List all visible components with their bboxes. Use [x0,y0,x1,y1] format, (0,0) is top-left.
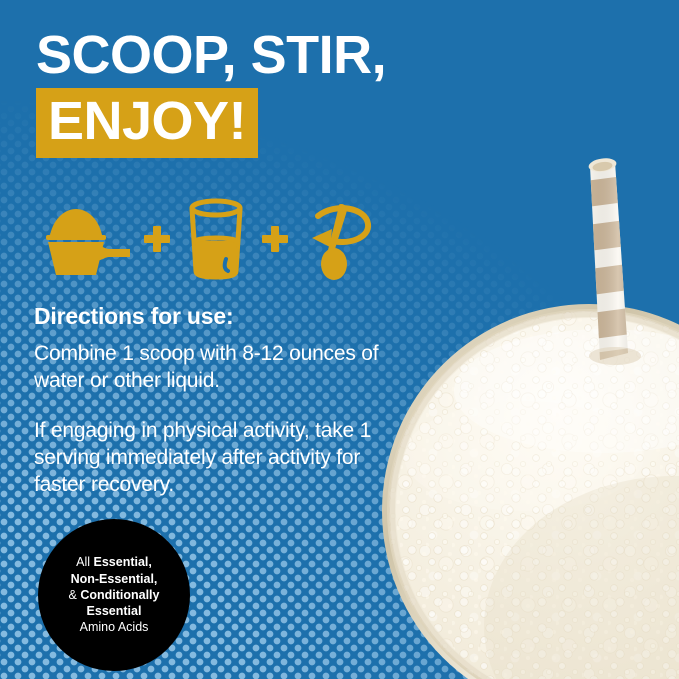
directions-block: Directions for use: Combine 1 scoop with… [34,303,406,498]
paper-straw [560,148,650,378]
usage-steps-icon-row [38,196,378,282]
badge-line-2: Non-Essential, [71,571,158,587]
plus-icon-1 [134,224,180,254]
stir-spoon-icon [298,196,378,282]
directions-paragraph-2: If engaging in physical activity, take 1… [34,417,406,499]
headline-line-1: SCOOP, STIR, [36,28,516,82]
glass-rim [382,304,679,679]
plus-icon-2 [252,224,298,254]
shake-surface [389,311,679,679]
promo-image: SCOOP, STIR, ENJOY! [0,0,679,679]
directions-paragraph-1: Combine 1 scoop with 8-12 ounces of wate… [34,340,406,395]
headline-line-2: ENJOY! [36,88,258,158]
drink-glass [374,296,679,679]
straw-opening [588,157,618,174]
straw-body [570,148,650,378]
directions-heading: Directions for use: [34,303,406,330]
amino-acids-badge: All Essential, Non-Essential, & Conditio… [38,519,190,671]
badge-line-4: Essential [87,603,142,619]
headline-block: SCOOP, STIR, ENJOY! [36,28,516,158]
badge-line-5: Amino Acids [80,619,149,635]
scoop-icon [38,199,134,279]
badge-line-1: All Essential, [76,554,152,570]
badge-line-3: & Conditionally [69,587,160,603]
glass-icon [180,197,252,281]
headline-line-2-highlight: ENJOY! [36,88,258,158]
foam-texture [374,296,679,679]
